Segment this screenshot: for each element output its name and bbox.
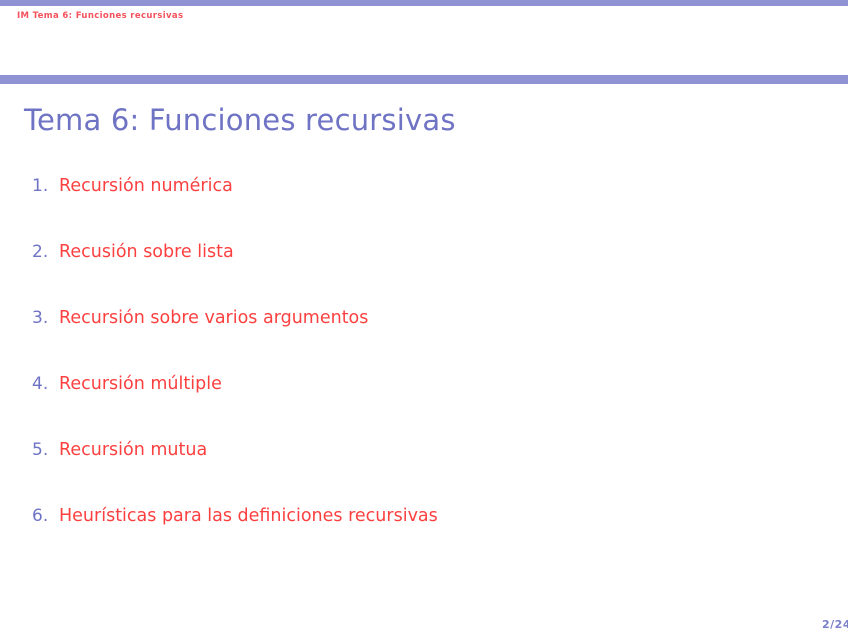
list-item-label: Recursión mutua <box>59 440 207 460</box>
list-item-label: Recursión numérica <box>59 176 233 196</box>
top-accent-bar <box>0 0 848 6</box>
page-indicator: 2/24 <box>822 618 848 631</box>
outline-list: 1. Recursión numérica 2. Recusión sobre … <box>0 176 848 572</box>
list-item[interactable]: 1. Recursión numérica <box>0 176 848 242</box>
list-item-label: Heurísticas para las definiciones recurs… <box>59 506 438 526</box>
list-item-number: 2. <box>32 242 58 262</box>
presentation-slide: IM Tema 6: Funciones recursivas Tema 6: … <box>0 0 848 635</box>
list-item[interactable]: 5. Recursión mutua <box>0 440 848 506</box>
list-item[interactable]: 3. Recursión sobre varios argumentos <box>0 308 848 374</box>
list-item-number: 1. <box>32 176 58 196</box>
list-item[interactable]: 2. Recusión sobre lista <box>0 242 848 308</box>
list-item-number: 3. <box>32 308 58 328</box>
running-title: IM Tema 6: Funciones recursivas <box>17 11 183 21</box>
list-item-label: Recursión sobre varios argumentos <box>59 308 368 328</box>
list-item[interactable]: 6. Heurísticas para las definiciones rec… <box>0 506 848 572</box>
list-item[interactable]: 4. Recursión múltiple <box>0 374 848 440</box>
list-item-number: 6. <box>32 506 58 526</box>
header-separator-bar <box>0 75 848 84</box>
list-item-number: 5. <box>32 440 58 460</box>
list-item-label: Recursión múltiple <box>59 374 222 394</box>
list-item-label: Recusión sobre lista <box>59 242 234 262</box>
slide-title: Tema 6: Funciones recursivas <box>24 103 456 137</box>
list-item-number: 4. <box>32 374 58 394</box>
